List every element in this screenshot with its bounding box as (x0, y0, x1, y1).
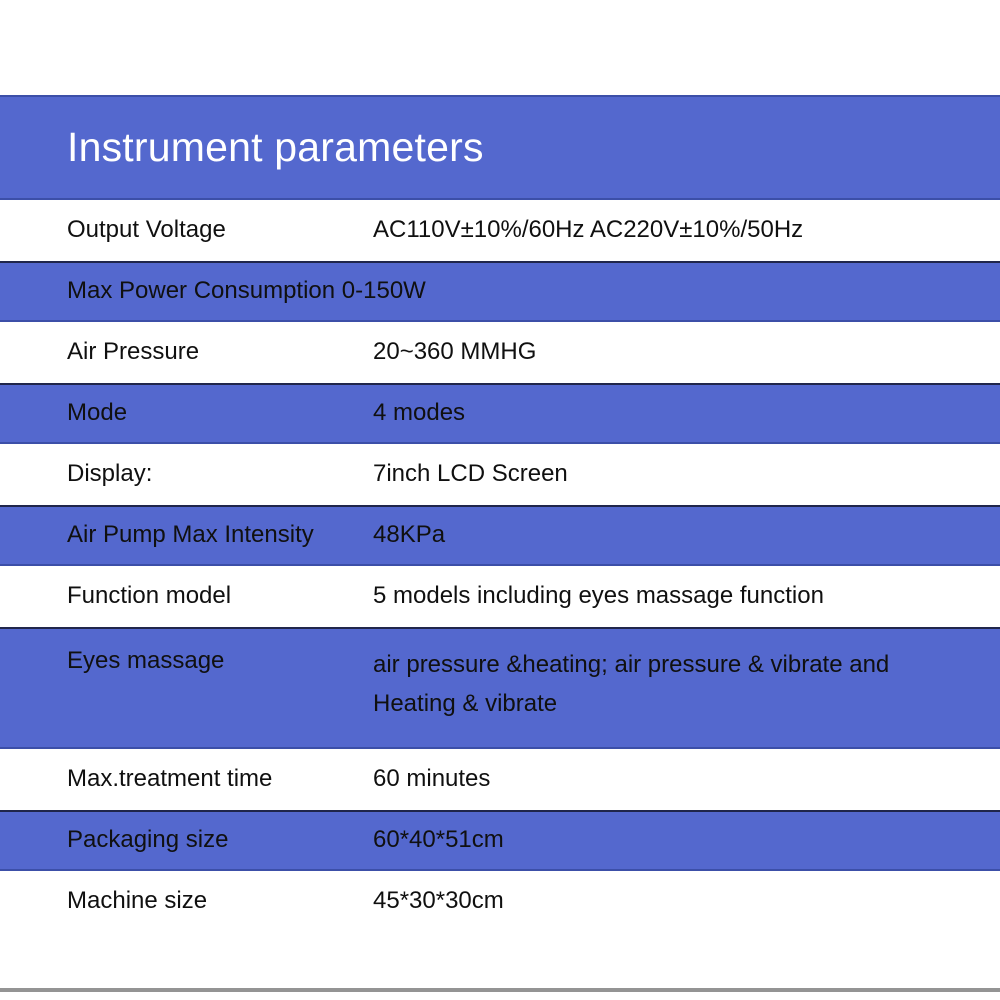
spec-value: AC110V±10%/60Hz AC220V±10%/50Hz (373, 211, 1000, 250)
spec-value: 4 modes (373, 394, 1000, 433)
spec-label: Air Pressure (0, 337, 373, 368)
spec-value: 60 minutes (373, 760, 1000, 799)
table-row: Max Power Consumption 0-150W (0, 261, 1000, 322)
spec-value: 45*30*30cm (373, 882, 1000, 921)
spec-value: 7inch LCD Screen (373, 455, 1000, 494)
spec-value: air pressure &heating; air pressure & vi… (373, 646, 1000, 724)
spec-label: Packaging size (0, 825, 373, 856)
spec-label: Function model (0, 581, 373, 612)
spec-label: Eyes massage (0, 646, 373, 677)
spec-label: Max.treatment time (0, 764, 373, 795)
table-row: Air Pressure20~360 MMHG (0, 322, 1000, 383)
spec-value: 48KPa (373, 516, 1000, 555)
table-row: Mode 4 modes (0, 383, 1000, 444)
spec-value: 5 models including eyes massage function (373, 577, 1000, 616)
spec-label: Air Pump Max Intensity (0, 520, 373, 551)
table-row: Packaging size60*40*51cm (0, 810, 1000, 871)
table-row: Output VoltageAC110V±10%/60Hz AC220V±10%… (0, 200, 1000, 261)
table-row: Max.treatment time60 minutes (0, 749, 1000, 810)
spec-value: 20~360 MMHG (373, 333, 1000, 372)
spec-sheet-page: Instrument parameters Output VoltageAC11… (0, 0, 1000, 1000)
table-row: Display:7inch LCD Screen (0, 444, 1000, 505)
spec-label: Max Power Consumption 0-150W (0, 276, 426, 307)
page-title: Instrument parameters (0, 127, 484, 168)
table-body: Output VoltageAC110V±10%/60Hz AC220V±10%… (0, 200, 1000, 932)
table-bottom-rule (0, 988, 1000, 992)
table-header-band: Instrument parameters (0, 95, 1000, 200)
instrument-parameters-table: Instrument parameters Output VoltageAC11… (0, 95, 1000, 992)
spec-value: 60*40*51cm (373, 821, 1000, 860)
table-row: Function model5 models including eyes ma… (0, 566, 1000, 627)
spec-label: Mode (0, 398, 373, 429)
spec-label: Output Voltage (0, 215, 373, 246)
spec-label: Machine size (0, 886, 373, 917)
table-row: Eyes massageair pressure &heating; air p… (0, 627, 1000, 749)
table-row: Machine size45*30*30cm (0, 871, 1000, 932)
spec-label: Display: (0, 459, 373, 490)
table-row: Air Pump Max Intensity48KPa (0, 505, 1000, 566)
